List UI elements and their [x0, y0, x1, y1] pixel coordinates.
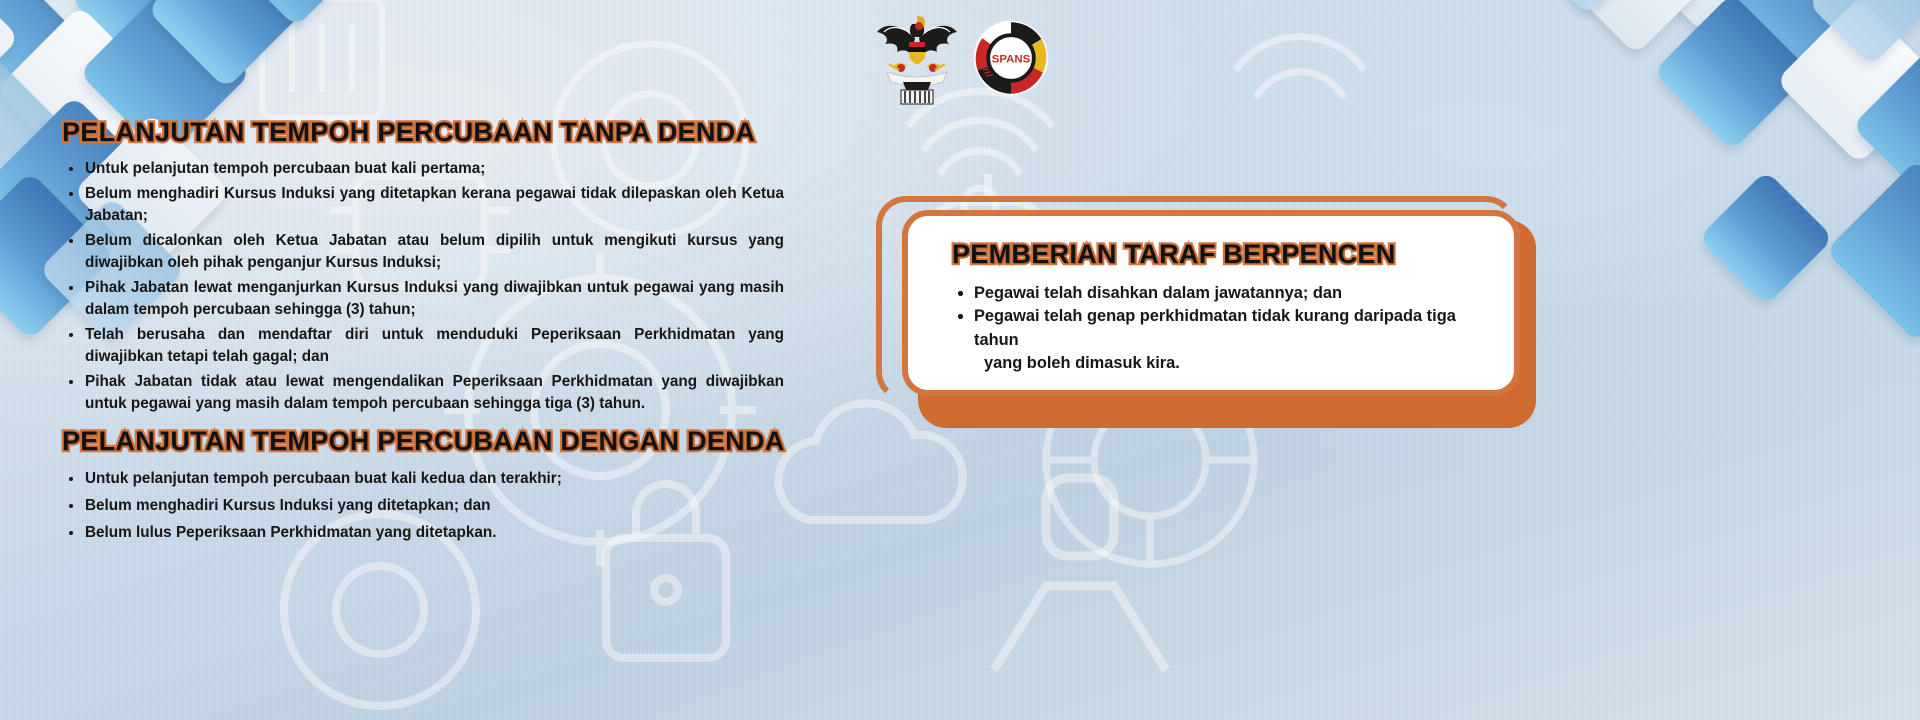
card-body: PEMBERIAN TARAF BERPENCEN Pegawai telah … — [902, 210, 1520, 396]
heading-pelanjutan-dengan-denda: PELANJUTAN TEMPOH PERCUBAAN DENGAN DENDA — [62, 427, 785, 456]
person-lineart-icon — [960, 440, 1200, 700]
list-item-continuation: yang boleh dimasuk kira. — [974, 352, 1488, 375]
list-item: Pegawai telah disahkan dalam jawatannya;… — [952, 282, 1488, 305]
list-item: Pihak Jabatan tidak atau lewat mengendal… — [62, 371, 784, 416]
bullet-list-berpencen: Pegawai telah disahkan dalam jawatannya;… — [952, 282, 1488, 375]
list-item: Untuk pelanjutan tempoh percubaan buat k… — [62, 468, 784, 490]
bullet-list-tanpa-denda: Untuk pelanjutan tempoh percubaan buat k… — [62, 158, 784, 415]
list-item: Untuk pelanjutan tempoh percubaan buat k… — [62, 158, 784, 180]
heading-pemberian-taraf-berpencen: PEMBERIAN TARAF BERPENCEN — [952, 240, 1396, 269]
list-item: Pihak Jabatan lewat menganjurkan Kursus … — [62, 277, 784, 322]
spans-logo: SPANS — [973, 20, 1049, 96]
sarawak-state-crest — [871, 6, 963, 110]
list-item: Pegawai telah genap perkhidmatan tidak k… — [952, 305, 1488, 375]
logo-group: SPANS — [871, 6, 1049, 110]
wifi-right-lineart-icon — [1190, 0, 1410, 170]
spans-logo-label: SPANS — [992, 54, 1031, 66]
list-item: Belum dicalonkan oleh Ketua Jabatan atau… — [62, 230, 784, 275]
bullet-list-dengan-denda: Untuk pelanjutan tempoh percubaan buat k… — [62, 468, 784, 544]
section-tanpa-denda: PELANJUTAN TEMPOH PERCUBAAN TANPA DENDA … — [62, 118, 784, 415]
list-item: Belum menghadiri Kursus Induksi yang dit… — [62, 183, 784, 228]
left-content-column: PELANJUTAN TEMPOH PERCUBAAN TANPA DENDA … — [62, 118, 784, 549]
list-item: Belum menghadiri Kursus Induksi yang dit… — [62, 495, 784, 517]
heading-pelanjutan-tanpa-denda: PELANJUTAN TEMPOH PERCUBAAN TANPA DENDA — [62, 118, 755, 147]
list-item: Telah berusaha dan mendaftar diri untuk … — [62, 324, 784, 369]
list-item: Belum lulus Peperiksaan Perkhidmatan yan… — [62, 522, 784, 544]
section-dengan-denda: PELANJUTAN TEMPOH PERCUBAAN DENGAN DENDA… — [62, 427, 784, 544]
pemberian-taraf-berpencen-card: PEMBERIAN TARAF BERPENCEN Pegawai telah … — [876, 196, 1536, 428]
list-item-text: Pegawai telah genap perkhidmatan tidak k… — [974, 307, 1456, 348]
